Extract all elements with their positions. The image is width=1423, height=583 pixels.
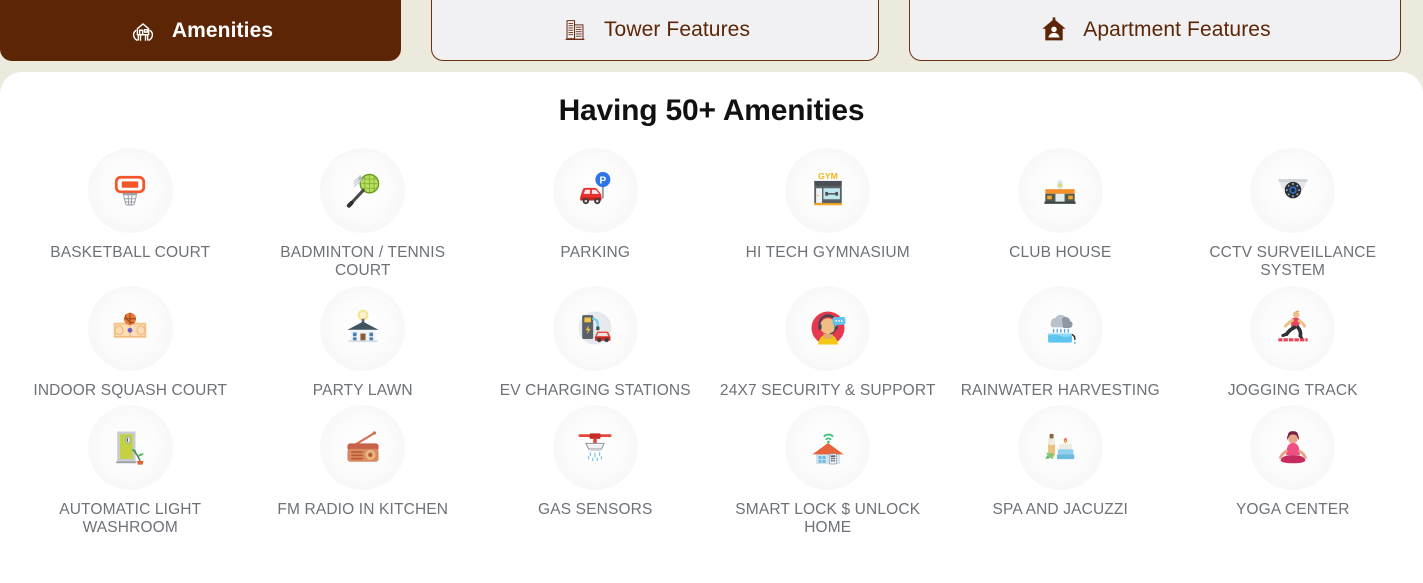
amenity-item[interactable]: YOGA CENTER — [1177, 405, 1410, 537]
tab-tower-features-label: Tower Features — [604, 18, 750, 42]
amenity-label: SPA AND JACUZZI — [993, 501, 1128, 519]
amenity-icon-badge — [320, 148, 405, 233]
amenity-icon-badge — [785, 286, 870, 371]
club-house-building-icon — [1038, 169, 1082, 213]
spa-candle-towel-icon — [1038, 426, 1082, 470]
smart-home-wifi-icon — [806, 426, 850, 470]
amenity-item[interactable]: CCTV SURVEILLANCE SYSTEM — [1177, 148, 1410, 280]
amenity-label: HI TECH GYMNASIUM — [746, 244, 910, 262]
house-in-hands-icon — [128, 16, 158, 46]
amenity-icon-badge — [1018, 148, 1103, 233]
car-parking-sign-icon: P — [573, 169, 617, 213]
amenity-icon-badge — [88, 148, 173, 233]
amenity-label: YOGA CENTER — [1236, 501, 1350, 519]
amenity-item[interactable]: EV CHARGING STATIONS — [479, 286, 712, 400]
amenity-icon-badge — [1250, 286, 1335, 371]
feature-tab-bar: Amenities Tower Features — [0, 0, 1423, 72]
office-tower-icon — [560, 15, 590, 45]
house-person-icon — [1039, 15, 1069, 45]
amenity-label: PARKING — [560, 244, 630, 262]
svg-text:GYM: GYM — [818, 171, 838, 181]
gym-storefront-icon: GYM — [806, 169, 850, 213]
tab-amenities[interactable]: Amenities — [0, 0, 401, 61]
amenity-label: 24X7 SECURITY & SUPPORT — [720, 382, 936, 400]
tab-tower-features[interactable]: Tower Features — [431, 0, 879, 61]
amenity-icon-badge — [1018, 286, 1103, 371]
amenity-icon-badge — [785, 405, 870, 490]
amenity-label: INDOOR SQUASH COURT — [33, 382, 227, 400]
tab-amenities-label: Amenities — [172, 19, 273, 43]
tab-apartment-features-label: Apartment Features — [1083, 18, 1270, 42]
amenity-icon-badge — [553, 286, 638, 371]
amenity-icon-badge — [1250, 148, 1335, 233]
amenity-icon-badge — [320, 286, 405, 371]
door-plant-icon — [108, 426, 152, 470]
tab-apartment-features[interactable]: Apartment Features — [909, 0, 1401, 61]
indoor-court-icon — [108, 306, 152, 350]
amenity-label: BADMINTON / TENNIS COURT — [253, 244, 473, 280]
amenities-panel: Having 50+ Amenities BASKETBALL COURT — [0, 72, 1423, 583]
amenity-label: SMART LOCK $ UNLOCK HOME — [718, 501, 938, 537]
amenity-item[interactable]: CLUB HOUSE — [944, 148, 1177, 280]
amenity-label: AUTOMATIC LIGHT WASHROOM — [20, 501, 240, 537]
yoga-person-icon — [1271, 426, 1315, 470]
lawn-house-icon — [341, 306, 385, 350]
amenity-icon-badge — [88, 286, 173, 371]
amenity-label: PARTY LAWN — [313, 382, 413, 400]
racket-shuttlecock-icon — [341, 169, 385, 213]
amenity-grid: BASKETBALL COURT — [0, 128, 1423, 537]
runner-track-icon — [1271, 306, 1315, 350]
amenity-item[interactable]: AUTOMATIC LIGHT WASHROOM — [14, 405, 247, 537]
rain-cloud-water-icon — [1038, 306, 1082, 350]
amenity-label: JOGGING TRACK — [1228, 382, 1358, 400]
amenity-label: GAS SENSORS — [538, 501, 653, 519]
amenity-icon-badge: P — [553, 148, 638, 233]
amenity-label: CCTV SURVEILLANCE SYSTEM — [1183, 244, 1403, 280]
dome-camera-icon — [1271, 169, 1315, 213]
support-agent-icon — [806, 306, 850, 350]
amenity-item[interactable]: P PARKING — [479, 148, 712, 280]
radio-icon — [341, 426, 385, 470]
amenity-label: BASKETBALL COURT — [50, 244, 210, 262]
amenity-item[interactable]: GAS SENSORS — [479, 405, 712, 537]
amenity-label: EV CHARGING STATIONS — [500, 382, 691, 400]
amenity-item[interactable]: JOGGING TRACK — [1177, 286, 1410, 400]
amenity-icon-badge: GYM — [785, 148, 870, 233]
basketball-hoop-icon — [108, 169, 152, 213]
amenity-item[interactable]: GYM HI TECH GYMNASIUM — [712, 148, 945, 280]
amenity-item[interactable]: SMART LOCK $ UNLOCK HOME — [712, 405, 945, 537]
amenity-item[interactable]: INDOOR SQUASH COURT — [14, 286, 247, 400]
amenity-label: FM RADIO IN KITCHEN — [277, 501, 448, 519]
sprinkler-sensor-icon — [573, 426, 617, 470]
amenity-icon-badge — [553, 405, 638, 490]
amenity-item[interactable]: RAINWATER HARVESTING — [944, 286, 1177, 400]
amenity-item[interactable]: PARTY LAWN — [247, 286, 480, 400]
page-title: Having 50+ Amenities — [0, 94, 1423, 128]
amenity-label: RAINWATER HARVESTING — [961, 382, 1160, 400]
amenity-item[interactable]: FM RADIO IN KITCHEN — [247, 405, 480, 537]
amenity-icon-badge — [1018, 405, 1103, 490]
amenity-icon-badge — [88, 405, 173, 490]
amenity-label: CLUB HOUSE — [1009, 244, 1111, 262]
amenity-item[interactable]: BASKETBALL COURT — [14, 148, 247, 280]
amenity-item[interactable]: SPA AND JACUZZI — [944, 405, 1177, 537]
amenity-icon-badge — [1250, 405, 1335, 490]
ev-charger-icon — [573, 306, 617, 350]
svg-text:P: P — [600, 175, 607, 186]
amenity-icon-badge — [320, 405, 405, 490]
amenity-item[interactable]: BADMINTON / TENNIS COURT — [247, 148, 480, 280]
amenity-item[interactable]: 24X7 SECURITY & SUPPORT — [712, 286, 945, 400]
